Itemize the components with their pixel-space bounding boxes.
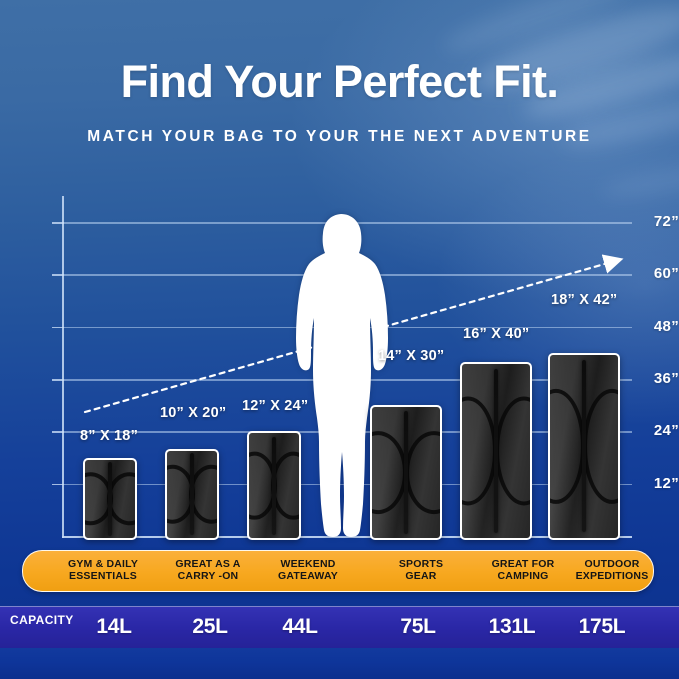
bag-size-label: 10” X 20” bbox=[160, 405, 226, 421]
bag-bar[interactable] bbox=[83, 458, 137, 540]
bag-arc-left-icon bbox=[460, 396, 497, 505]
footer-strip bbox=[0, 648, 679, 679]
bag-seam bbox=[272, 437, 276, 535]
y-axis-label: 60” bbox=[633, 265, 679, 282]
use-case-text: GREAT FORCAMPING bbox=[492, 558, 555, 583]
bag-seam bbox=[494, 369, 498, 533]
y-axis-label: 12” bbox=[633, 475, 679, 492]
capacity-value: 75L bbox=[368, 609, 468, 645]
y-axis-tick bbox=[52, 379, 64, 381]
use-case-text: GREAT AS ACARRY -ON bbox=[175, 558, 240, 583]
bag-bar[interactable] bbox=[460, 362, 532, 540]
use-case-text: GYM & DAILYESSENTIALS bbox=[68, 558, 138, 583]
bag-bar[interactable] bbox=[370, 405, 442, 540]
bag-seam bbox=[190, 453, 194, 535]
use-case-cell: GREAT AS ACARRY -ON bbox=[156, 550, 260, 590]
y-axis-tick bbox=[52, 484, 64, 486]
bag-seam bbox=[108, 462, 112, 536]
capacity-value: 175L bbox=[552, 609, 652, 645]
bag-arc-right-icon bbox=[405, 431, 442, 515]
use-case-cell: OUTDOOREXPEDITIONS bbox=[560, 550, 664, 590]
bag-size-label: 8” X 18” bbox=[80, 428, 138, 444]
bag-arc-left-icon bbox=[548, 389, 585, 503]
y-axis-tick bbox=[52, 274, 64, 276]
bag-size-label: 14” X 30” bbox=[378, 348, 444, 364]
use-case-cell: WEEKENDGATEAWAY bbox=[248, 550, 368, 590]
infographic-canvas: Find Your Perfect Fit. MATCH YOUR BAG TO… bbox=[0, 0, 679, 679]
page-subtitle: MATCH YOUR BAG TO YOUR THE NEXT ADVENTUR… bbox=[0, 128, 679, 146]
capacity-value: 44L bbox=[250, 609, 350, 645]
use-case-cell: GYM & DAILYESSENTIALS bbox=[48, 550, 158, 590]
use-case-text: WEEKENDGATEAWAY bbox=[278, 558, 338, 583]
cloud-wisp-icon bbox=[599, 159, 679, 203]
bag-bar[interactable] bbox=[247, 431, 301, 540]
y-axis-label: 24” bbox=[633, 422, 679, 439]
y-axis-label: 72” bbox=[633, 213, 679, 230]
bag-bar[interactable] bbox=[548, 353, 620, 540]
use-case-cell: SPORTSGEAR bbox=[370, 550, 472, 590]
bag-arc-right-icon bbox=[495, 396, 532, 505]
y-axis-label: 36” bbox=[633, 370, 679, 387]
bag-size-label: 12” X 24” bbox=[242, 398, 308, 414]
bag-seam bbox=[404, 411, 408, 534]
bag-arc-left-icon bbox=[370, 431, 407, 515]
y-axis-tick bbox=[52, 222, 64, 224]
bag-size-label: 18” X 42” bbox=[551, 292, 617, 308]
y-axis-tick bbox=[52, 431, 64, 433]
bag-seam bbox=[582, 360, 586, 532]
bag-arc-right-icon bbox=[583, 389, 620, 503]
y-axis-tick bbox=[52, 327, 64, 329]
bag-bar[interactable] bbox=[165, 449, 219, 540]
capacity-value: 25L bbox=[160, 609, 260, 645]
y-axis-line bbox=[62, 196, 64, 538]
bag-size-label: 16” X 40” bbox=[463, 326, 529, 342]
page-title: Find Your Perfect Fit. bbox=[0, 56, 679, 108]
capacity-value: 14L bbox=[64, 609, 164, 645]
use-case-text: SPORTSGEAR bbox=[399, 558, 443, 583]
capacity-value: 131L bbox=[462, 609, 562, 645]
use-case-text: OUTDOOREXPEDITIONS bbox=[576, 558, 649, 583]
y-axis-label: 48” bbox=[633, 318, 679, 335]
